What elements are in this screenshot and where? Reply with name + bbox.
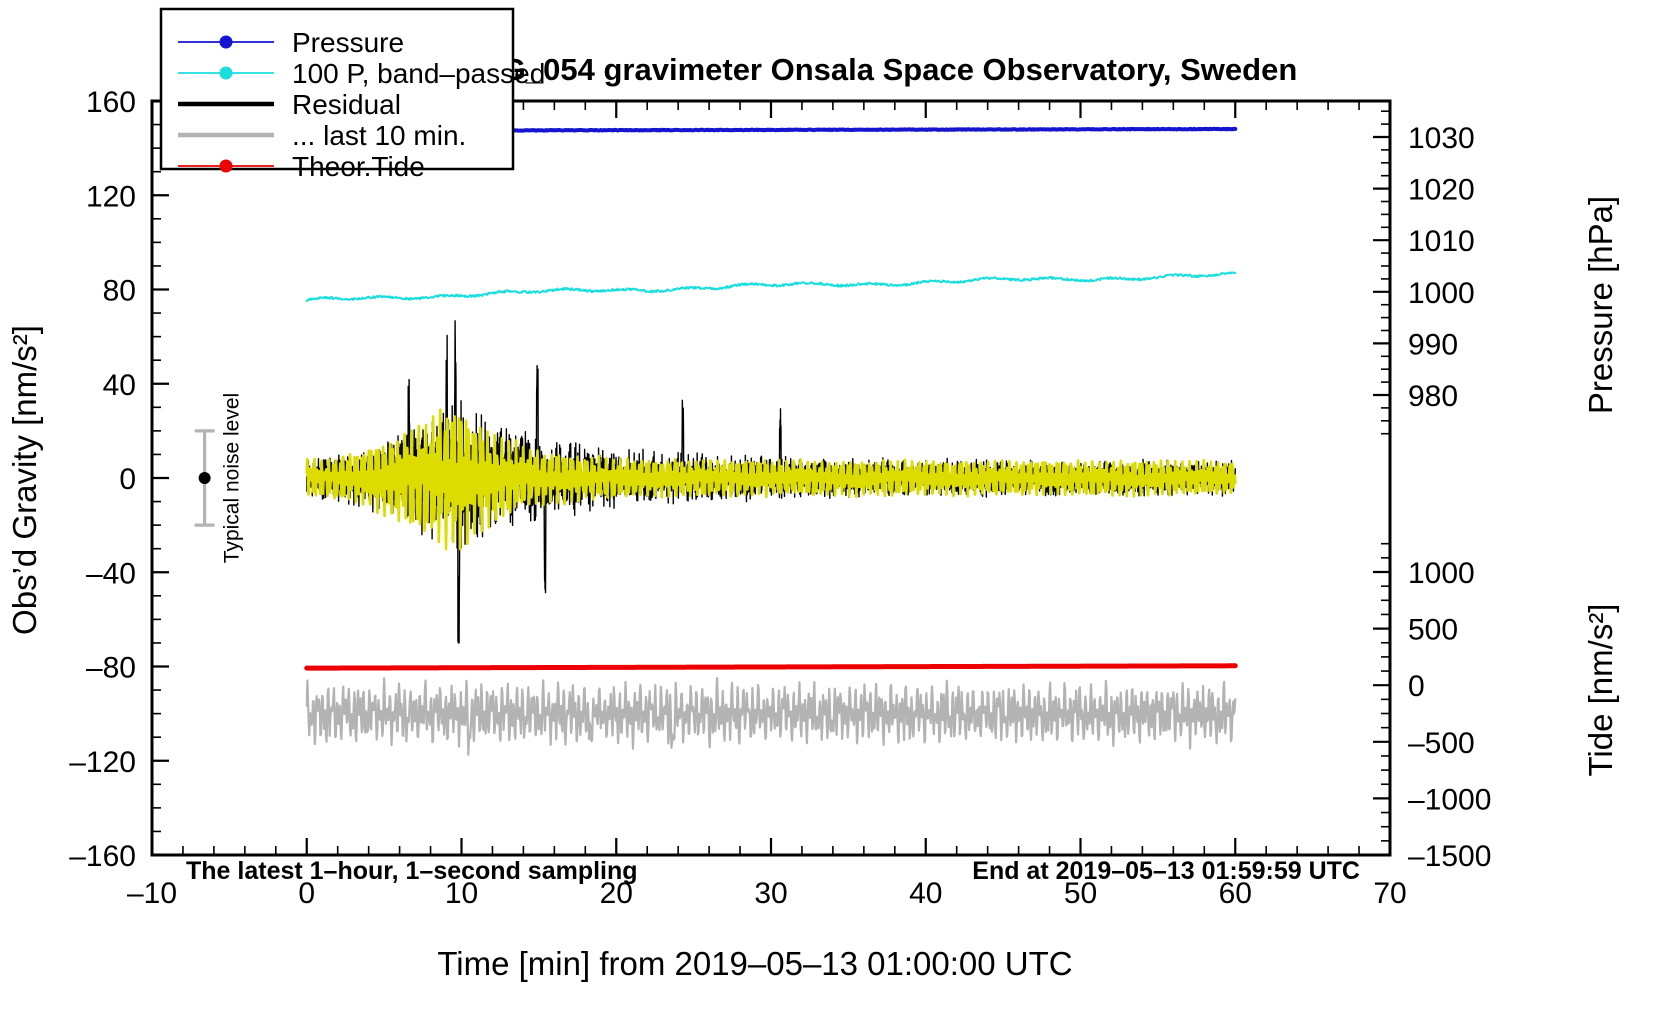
legend-marker-dot-icon	[220, 67, 233, 80]
pressure-tick-label: 1020	[1408, 174, 1475, 207]
legend-item-label[interactable]: Pressure	[292, 27, 404, 58]
tide-tick-label: 0	[1408, 670, 1425, 703]
tide-tick-label: 500	[1408, 614, 1458, 647]
pressure-tick-label: 990	[1408, 328, 1458, 361]
noise-center-dot	[199, 472, 211, 484]
x-tick-label: –10	[127, 877, 177, 910]
y-tick-label: 40	[103, 369, 136, 402]
pressure-tick-label: 1000	[1408, 277, 1475, 310]
legend-item-label[interactable]: Theor.Tide	[292, 151, 425, 182]
y-tick-label: 120	[86, 180, 136, 213]
gravimeter-chart: –10010203040506070–160–120–80–4004080120…	[0, 0, 1660, 1020]
tide-tick-label: 1000	[1408, 557, 1475, 590]
chart-legend[interactable]: Pressure100 P, band–passedResidual... la…	[161, 9, 545, 182]
tide-tick-label: –1000	[1408, 783, 1491, 816]
pressure-tick-label: 1010	[1408, 225, 1475, 258]
y-tick-label: –40	[86, 557, 136, 590]
sampling-note: The latest 1–hour, 1–second sampling	[186, 857, 638, 885]
pressure-tick-label: 980	[1408, 380, 1458, 413]
x-axis-title: Time [min] from 2019–05–13 01:00:00 UTC	[437, 945, 1072, 982]
noise-level-label: Typical noise level	[221, 393, 244, 563]
x-tick-label: 40	[909, 877, 942, 910]
tide-tick-label: –500	[1408, 727, 1475, 760]
legend-item-label[interactable]: Residual	[292, 89, 401, 120]
x-tick-label: 30	[754, 877, 787, 910]
legend-marker-dot-icon	[220, 160, 233, 173]
y-tick-label: 80	[103, 275, 136, 308]
pressure-tick-label: 1030	[1408, 122, 1475, 155]
y-tick-label: 0	[119, 463, 136, 496]
y-tick-label: –160	[69, 840, 136, 873]
tide-axis-title: Tide [nm/s²]	[1582, 604, 1619, 777]
legend-item-label[interactable]: ... last 10 min.	[292, 120, 466, 151]
page-title: SCG_054 gravimeter Onsala Space Observat…	[459, 52, 1298, 87]
legend-item-label[interactable]: 100 P, band–passed	[292, 58, 545, 89]
end-time-note: End at 2019–05–13 01:59:59 UTC	[972, 857, 1360, 885]
x-tick-label: 70	[1373, 877, 1406, 910]
y-tick-label: –120	[69, 746, 136, 779]
legend-marker-dot-icon	[220, 36, 233, 49]
y-tick-label: –80	[86, 652, 136, 685]
tide-tick-label: –1500	[1408, 840, 1491, 873]
y-axis-title: Obs’d Gravity [nm/s²]	[6, 325, 43, 635]
pressure-axis-title: Pressure [hPa]	[1582, 196, 1619, 414]
chart-page: –10010203040506070–160–120–80–4004080120…	[0, 0, 1660, 1020]
y-tick-label: 160	[86, 86, 136, 119]
theoretical-tide-trace	[307, 666, 1236, 668]
